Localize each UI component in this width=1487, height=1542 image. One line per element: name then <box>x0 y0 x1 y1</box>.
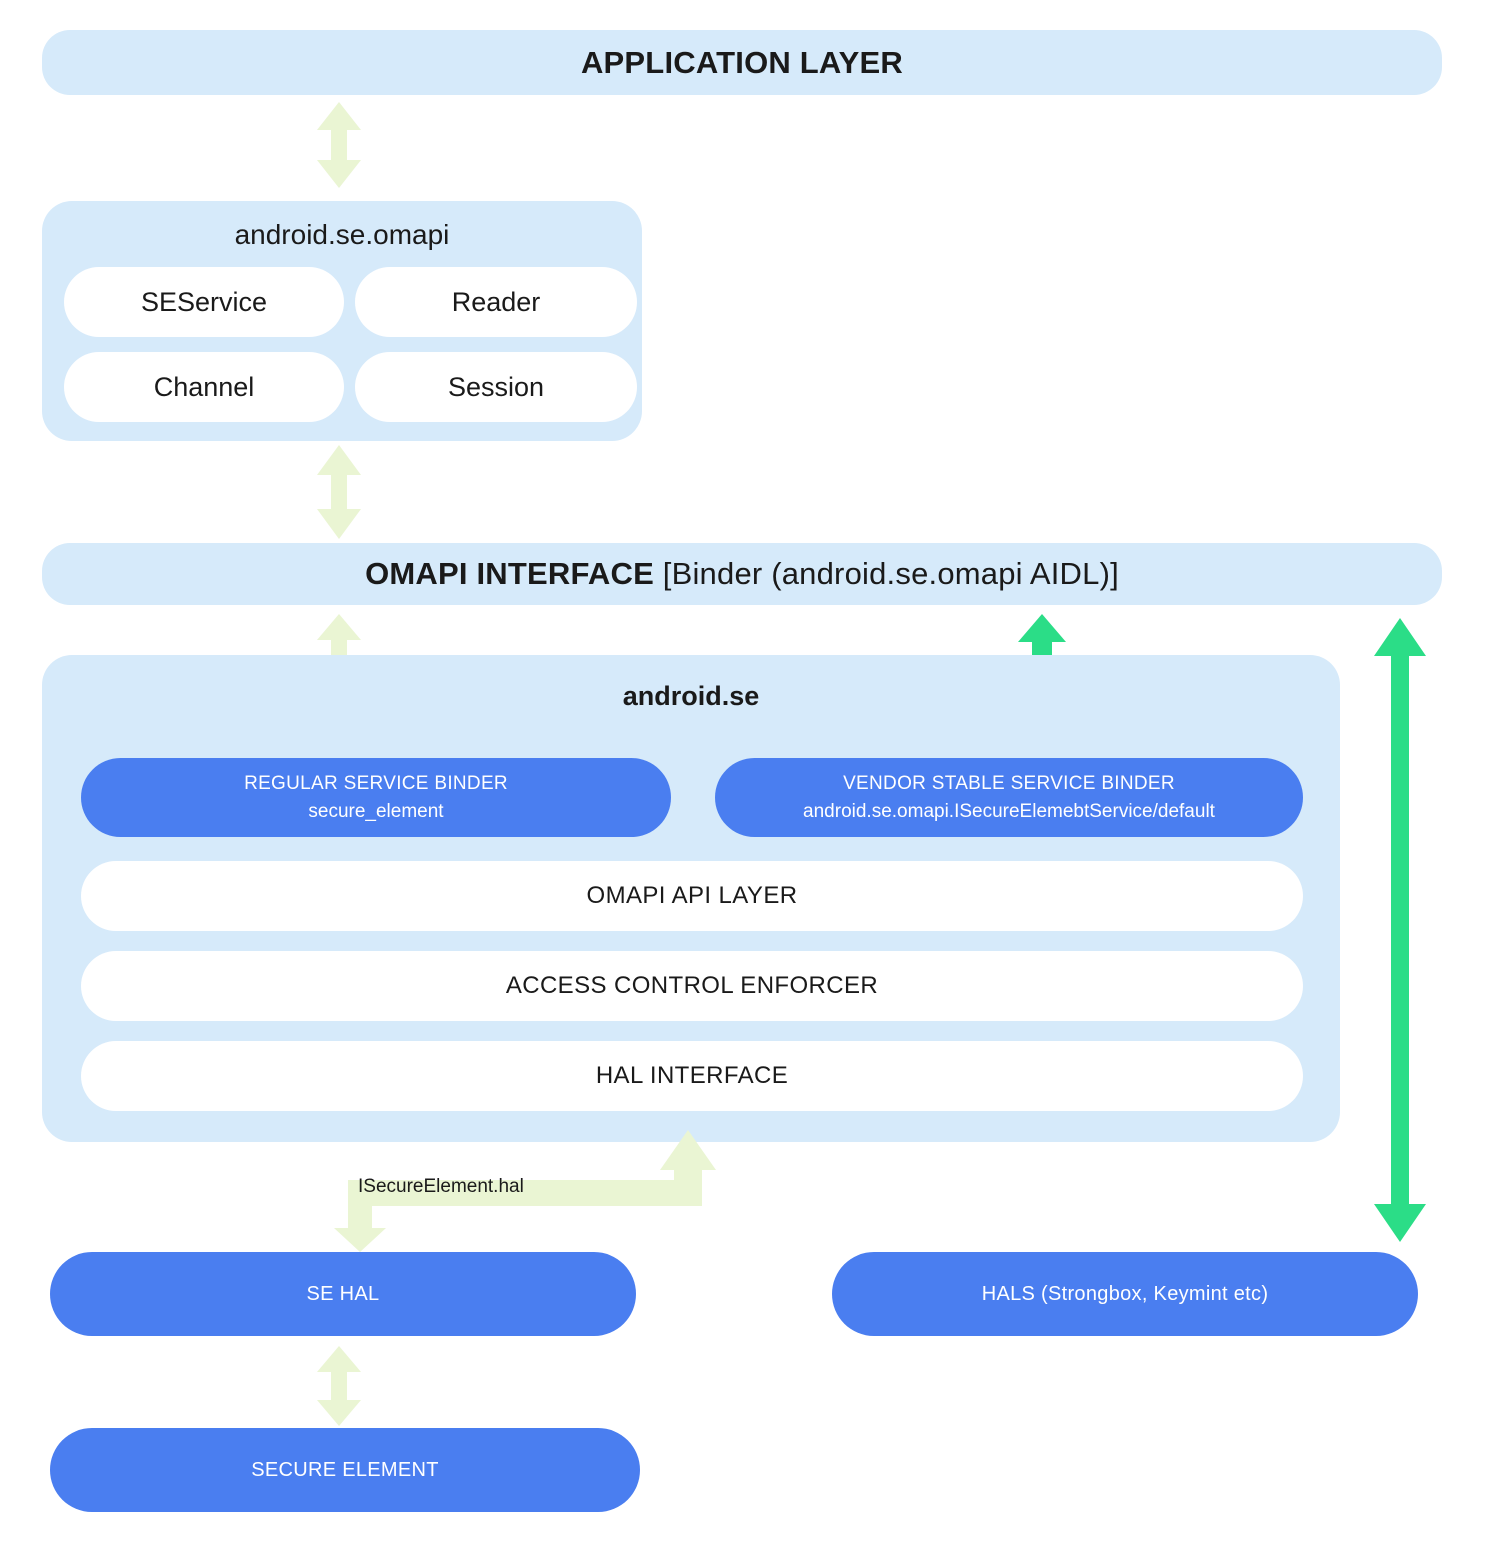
layer-omapi-api[interactable]: OMAPI API LAYER <box>81 861 1303 931</box>
layer-label: ACCESS CONTROL ENFORCER <box>506 972 878 1000</box>
application-layer-band: APPLICATION LAYER <box>42 30 1442 95</box>
application-layer-label: APPLICATION LAYER <box>581 45 903 81</box>
binder-subtitle: android.se.omapi.ISecureElemebtService/d… <box>803 801 1215 823</box>
regular-service-binder[interactable]: REGULAR SERVICE BINDER secure_element <box>81 758 671 837</box>
arrow-interface-to-hals <box>1370 616 1430 1244</box>
omapi-class-label: Channel <box>154 372 255 403</box>
layer-label: HAL INTERFACE <box>596 1062 788 1090</box>
binder-title: REGULAR SERVICE BINDER <box>244 773 508 795</box>
omapi-class-seservice[interactable]: SEService <box>64 267 344 337</box>
omapi-class-session[interactable]: Session <box>355 352 637 422</box>
layer-access-control-enforcer[interactable]: ACCESS CONTROL ENFORCER <box>81 951 1303 1021</box>
secure-element-box[interactable]: SECURE ELEMENT <box>50 1428 640 1512</box>
se-hal-box[interactable]: SE HAL <box>50 1252 636 1336</box>
omapi-class-label: Session <box>448 372 544 403</box>
omapi-package-label: android.se.omapi <box>42 219 642 251</box>
arrow-isecureelement-hal-label: ISecureElement.hal <box>358 1176 618 1198</box>
omapi-class-label: Reader <box>452 287 541 318</box>
omapi-class-reader[interactable]: Reader <box>355 267 637 337</box>
layer-label: OMAPI API LAYER <box>587 882 798 910</box>
android-se-label: android.se <box>42 681 1340 712</box>
omapi-interface-label-regular: [Binder (android.se.omapi AIDL)] <box>654 556 1119 591</box>
omapi-architecture-diagram: APPLICATION LAYER android.se.omapi SESer… <box>0 0 1487 1542</box>
vendor-stable-service-binder[interactable]: VENDOR STABLE SERVICE BINDER android.se.… <box>715 758 1303 837</box>
omapi-interface-band: OMAPI INTERFACE [Binder (android.se.omap… <box>42 543 1442 605</box>
arrow-omapi-to-interface <box>313 443 365 541</box>
binder-title: VENDOR STABLE SERVICE BINDER <box>843 773 1175 795</box>
omapi-interface-label-bold: OMAPI INTERFACE <box>365 556 654 591</box>
layer-hal-interface[interactable]: HAL INTERFACE <box>81 1041 1303 1111</box>
omapi-interface-label: OMAPI INTERFACE [Binder (android.se.omap… <box>365 556 1119 592</box>
omapi-class-channel[interactable]: Channel <box>64 352 344 422</box>
se-hal-label: SE HAL <box>307 1283 380 1306</box>
other-hals-label: HALS (Strongbox, Keymint etc) <box>982 1283 1269 1306</box>
other-hals-box[interactable]: HALS (Strongbox, Keymint etc) <box>832 1252 1418 1336</box>
secure-element-label: SECURE ELEMENT <box>251 1459 439 1482</box>
binder-subtitle: secure_element <box>308 801 443 823</box>
omapi-class-label: SEService <box>141 287 267 318</box>
arrow-sehal-to-secureelement <box>313 1344 365 1428</box>
arrow-app-to-omapi <box>313 100 365 190</box>
